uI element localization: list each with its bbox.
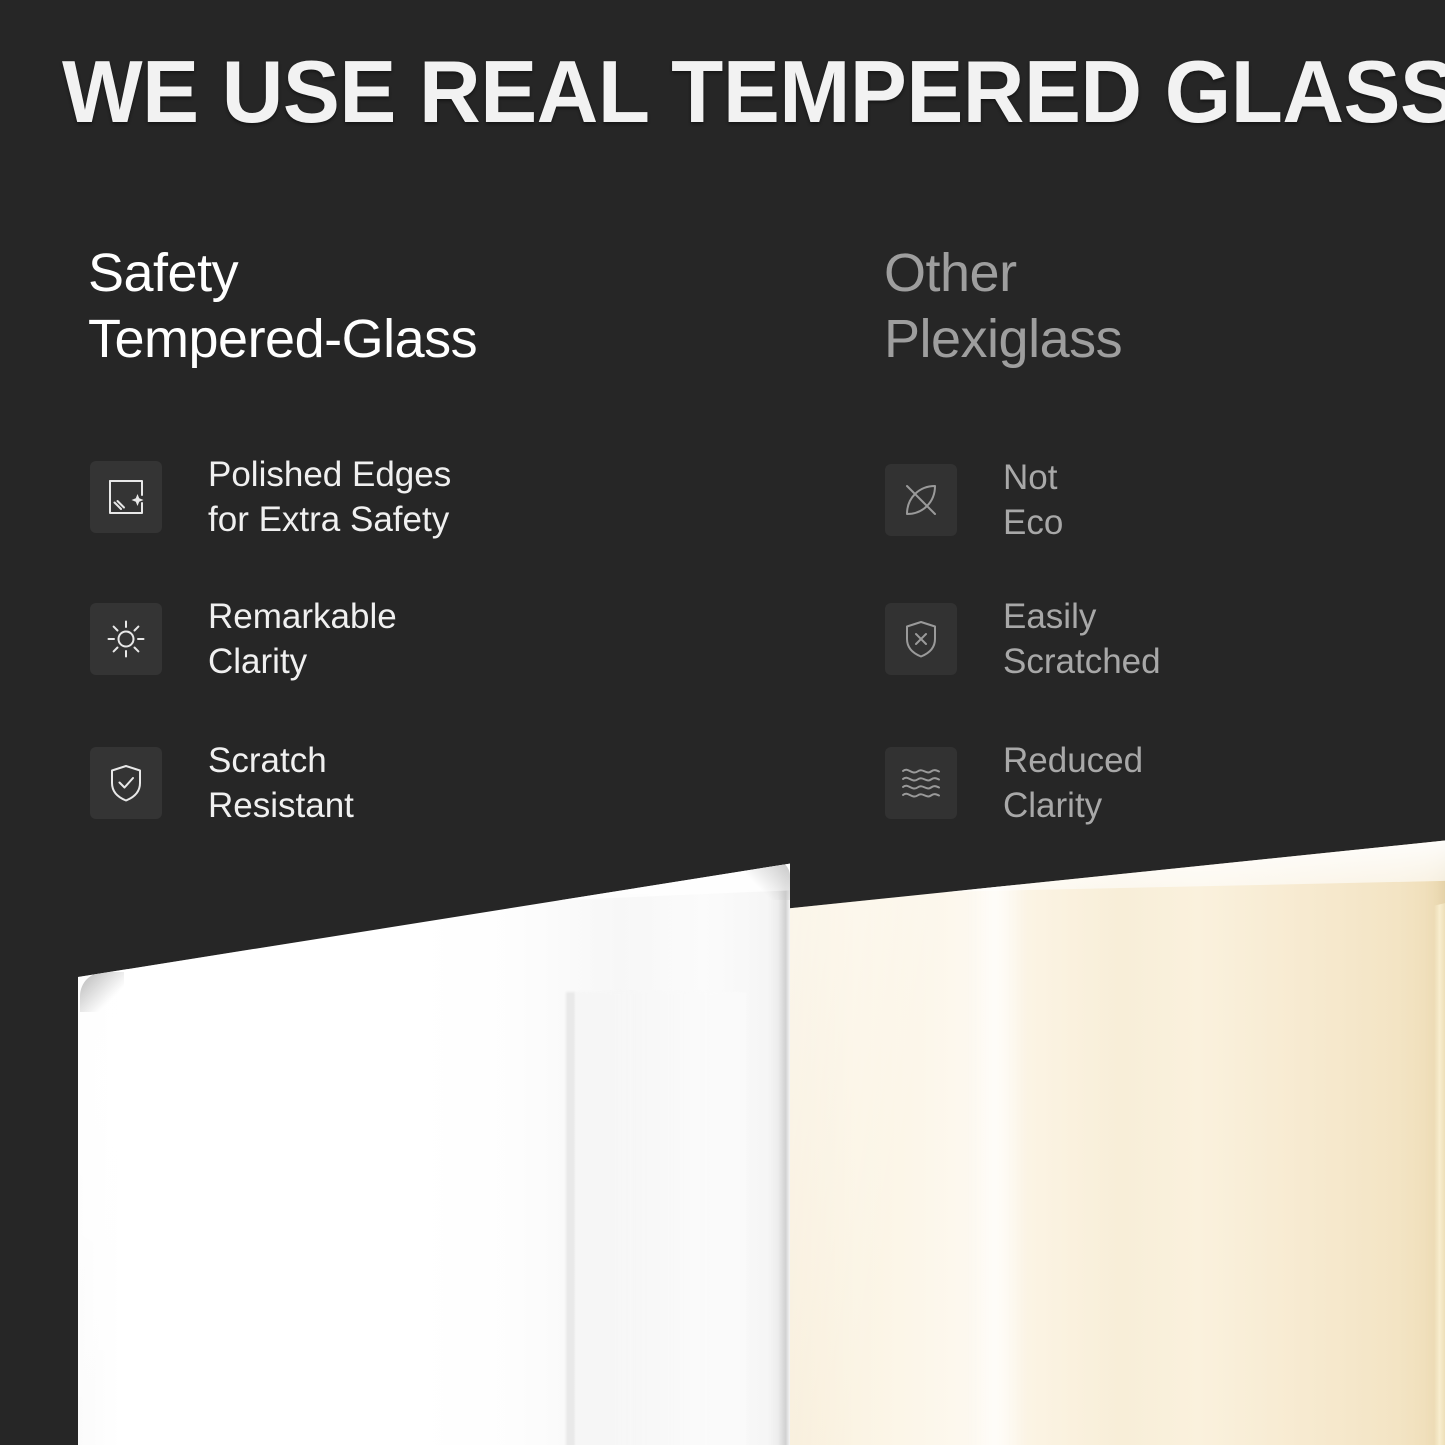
feature-label: Not Eco (1003, 455, 1063, 545)
feature-row-not-eco: Not Eco (885, 455, 1063, 545)
feature-row-easily-scratched: Easily Scratched (885, 594, 1161, 684)
page-title: WE USE REAL TEMPERED GLASS (62, 44, 1352, 140)
shield-x-icon (885, 603, 957, 675)
plexiglass-top-edge-highlight (790, 840, 1445, 960)
sun-clarity-icon (90, 603, 162, 675)
glass-top-left-corner (80, 972, 124, 1012)
glass-top-right-corner (746, 860, 790, 900)
tempered-glass-panel (78, 860, 790, 1445)
feature-label: Remarkable Clarity (208, 594, 397, 684)
infographic-canvas: WE USE REAL TEMPERED GLASS Safety Temper… (0, 0, 1445, 1445)
feature-row-polished-edges: Polished Edges for Extra Safety (90, 452, 451, 542)
plexiglass-right-edge (1434, 840, 1445, 1445)
feature-label: Scratch Resistant (208, 738, 354, 828)
feature-label: Reduced Clarity (1003, 738, 1143, 828)
column-heading-tempered-glass: Safety Tempered-Glass (88, 240, 477, 372)
feature-label: Easily Scratched (1003, 594, 1161, 684)
leaf-slash-icon (885, 464, 957, 536)
column-heading-plexiglass: Other Plexiglass (884, 240, 1122, 372)
feature-row-reduced-clarity: Reduced Clarity (885, 738, 1143, 828)
product-photo (0, 840, 1445, 1445)
plexiglass-panel (790, 840, 1445, 1445)
feature-row-scratch-resistant: Scratch Resistant (90, 738, 354, 828)
feature-label: Polished Edges for Extra Safety (208, 452, 451, 542)
feature-row-remarkable-clarity: Remarkable Clarity (90, 594, 397, 684)
glass-top-bevel (78, 860, 790, 1445)
plexiglass-sheen (962, 877, 1028, 1445)
polished-edges-icon (90, 461, 162, 533)
shield-check-icon (90, 747, 162, 819)
wavy-lines-icon (885, 747, 957, 819)
